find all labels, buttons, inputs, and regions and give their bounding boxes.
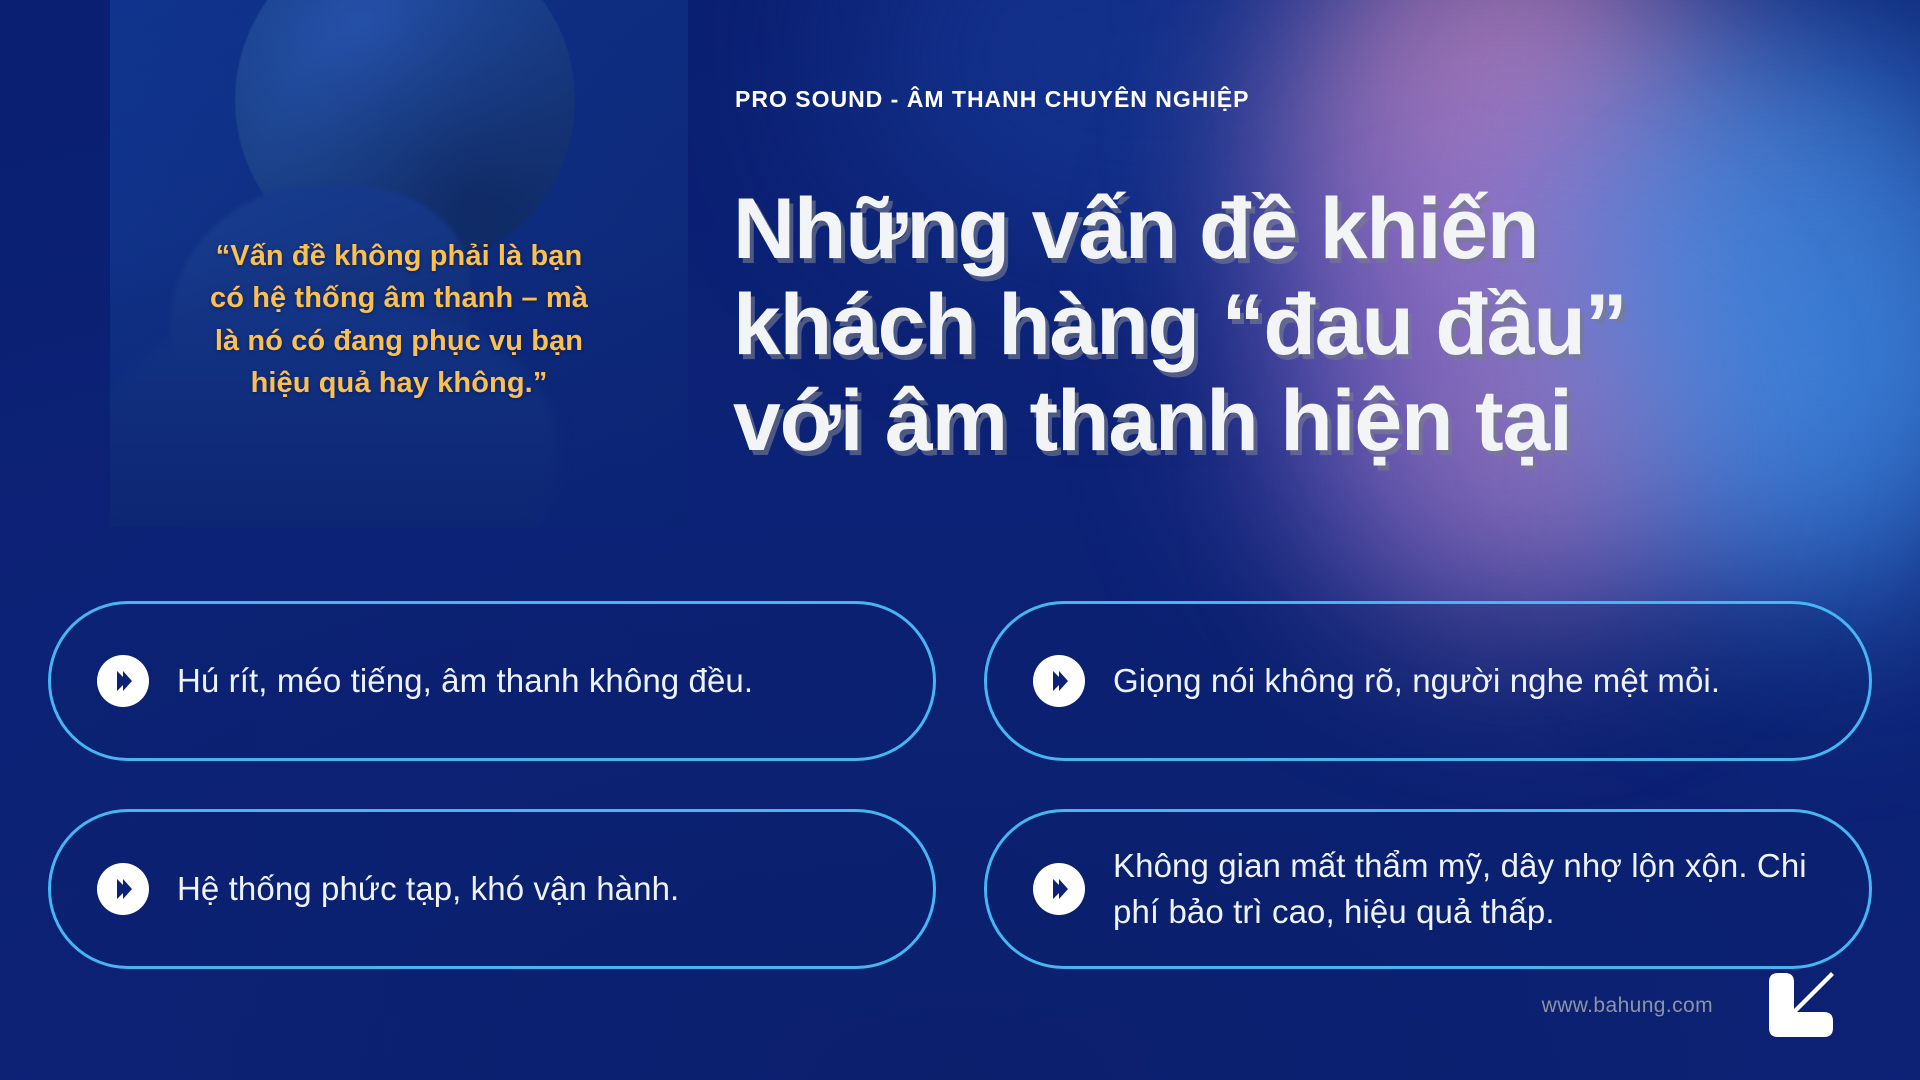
- brand-eyebrow: PRO SOUND - ÂM THANH CHUYÊN NGHIỆP: [735, 86, 1249, 113]
- pull-quote: “Vấn đề không phải là bạn có hệ thống âm…: [110, 235, 688, 404]
- pain-point-list: Hú rít, méo tiếng, âm thanh không đều. G…: [48, 601, 1872, 969]
- play-circle-icon: [1033, 655, 1085, 707]
- list-item[interactable]: Hú rít, méo tiếng, âm thanh không đều.: [48, 601, 936, 761]
- quote-line-1: “Vấn đề không phải là bạn: [144, 235, 654, 277]
- quote-line-2: có hệ thống âm thanh – mà: [144, 277, 654, 319]
- page-title: Những vấn đề khiến khách hàng “đau đầu” …: [733, 186, 1873, 464]
- play-circle-icon: [1033, 863, 1085, 915]
- slide-canvas: “Vấn đề không phải là bạn có hệ thống âm…: [0, 0, 1920, 1080]
- play-circle-icon: [97, 863, 149, 915]
- headline-line-2: khách hàng “đau đầu”: [733, 282, 1873, 368]
- website-url[interactable]: www.bahung.com: [1542, 994, 1713, 1018]
- list-item-label: Giọng nói không rõ, người nghe mệt mỏi.: [1113, 658, 1720, 704]
- headline-line-3: với âm thanh hiện tại: [733, 378, 1873, 464]
- list-item[interactable]: Không gian mất thẩm mỹ, dây nhợ lộn xộn.…: [984, 809, 1872, 969]
- list-item-label: Không gian mất thẩm mỹ, dây nhợ lộn xộn.…: [1113, 843, 1823, 934]
- play-circle-icon: [97, 655, 149, 707]
- arrow-down-left-icon[interactable]: [1758, 964, 1842, 1048]
- list-item-label: Hệ thống phức tạp, khó vận hành.: [177, 866, 679, 912]
- quote-line-3: là nó có đang phục vụ bạn: [144, 320, 654, 362]
- list-item-label: Hú rít, méo tiếng, âm thanh không đều.: [177, 658, 753, 704]
- headline-line-1: Những vấn đề khiến: [733, 186, 1873, 272]
- quote-line-4: hiệu quả hay không.”: [144, 362, 654, 404]
- list-item[interactable]: Hệ thống phức tạp, khó vận hành.: [48, 809, 936, 969]
- list-item[interactable]: Giọng nói không rõ, người nghe mệt mỏi.: [984, 601, 1872, 761]
